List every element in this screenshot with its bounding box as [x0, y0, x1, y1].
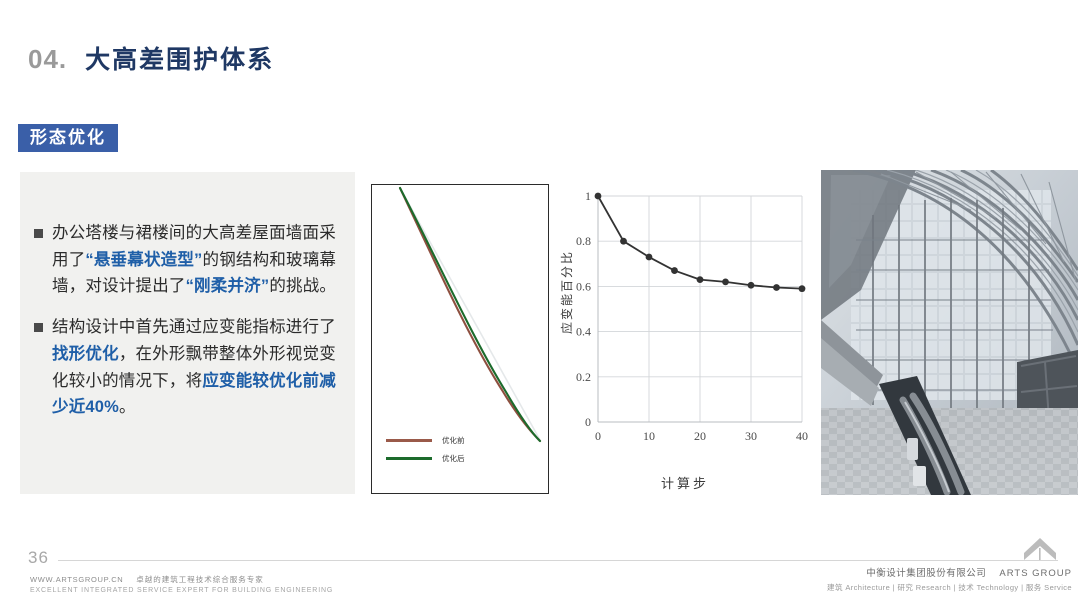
list-item: 办公塔楼与裙楼间的大高差屋面墙面采用了“悬垂幕状造型”的钢结构和玻璃幕墙，对设计…	[34, 220, 337, 300]
logo-chevron-icon	[1022, 536, 1058, 562]
page-title: 04. 大高差围护体系	[28, 40, 274, 76]
footer-website: WWW.ARTSGROUP.CN	[30, 575, 123, 584]
x-tick-label: 10	[643, 429, 655, 443]
shape-optimization-diagram: 优化前 优化后	[371, 184, 549, 494]
section-badge: 形态优化	[18, 124, 118, 152]
y-tick-label: 0.4	[576, 325, 591, 339]
footer-right-block: 中衡设计集团股份有限公司 ARTS GROUP 建筑 Architecture …	[827, 566, 1072, 595]
shape-diagram-legend: 优化前 优化后	[386, 435, 465, 471]
highlighted-text: “悬垂幕状造型”	[85, 251, 202, 269]
line-chart-svg: 00.20.40.60.81010203040	[556, 184, 814, 462]
data-point-marker	[671, 267, 678, 274]
legend-item-after: 优化后	[386, 453, 465, 464]
footer-divider	[58, 560, 1058, 561]
data-point-marker	[722, 278, 729, 285]
page-title-number: 04.	[28, 44, 67, 75]
x-tick-label: 20	[694, 429, 706, 443]
legend-item-before: 优化前	[386, 435, 465, 446]
footer-slogan-en: EXCELLENT INTEGRATED SERVICE EXPERT FOR …	[30, 586, 333, 597]
guide-line	[400, 188, 540, 440]
page-title-text: 大高差围护体系	[85, 40, 274, 76]
chart-x-axis-label: 计算步	[556, 473, 814, 492]
footer-left-block: WWW.ARTSGROUP.CN 卓越的建筑工程技术综合服务专家 EXCELLE…	[30, 574, 333, 596]
y-tick-label: 0.2	[576, 370, 591, 384]
footer-left-line1: WWW.ARTSGROUP.CN 卓越的建筑工程技术综合服务专家	[30, 574, 333, 586]
highlighted-text: “刚柔并济”	[186, 277, 270, 295]
data-point-marker	[748, 282, 755, 289]
strain-energy-line-chart: 00.20.40.60.81010203040 应变能百分比 计算步	[556, 184, 814, 494]
plain-text: 结构设计中首先通过应变能指标进行了	[52, 318, 336, 336]
footer-slogan-cn: 卓越的建筑工程技术综合服务专家	[136, 575, 264, 584]
highlighted-text: 找形优化	[52, 345, 119, 363]
x-tick-label: 30	[745, 429, 757, 443]
legend-swatch-after	[386, 457, 432, 459]
data-point-marker	[595, 193, 602, 200]
bullet-text-2: 结构设计中首先通过应变能指标进行了找形优化，在外形飘带整体外形视觉变化较小的情况…	[52, 314, 337, 421]
plain-text: 。	[119, 398, 136, 416]
legend-label-after: 优化后	[442, 453, 465, 464]
content-text-panel: 办公塔楼与裙楼间的大高差屋面墙面采用了“悬垂幕状造型”的钢结构和玻璃幕墙，对设计…	[20, 172, 355, 494]
y-tick-label: 1	[585, 189, 591, 203]
data-point-marker	[620, 238, 627, 245]
chart-y-axis-label: 应变能百分比	[558, 250, 575, 334]
arts-group-logo-icon	[1022, 536, 1058, 562]
x-tick-label: 0	[595, 429, 601, 443]
legend-label-before: 优化前	[442, 435, 465, 446]
architecture-photo	[821, 170, 1078, 495]
y-tick-label: 0	[585, 415, 591, 429]
architecture-photo-svg	[821, 170, 1078, 495]
data-point-marker	[799, 285, 806, 292]
list-item: 结构设计中首先通过应变能指标进行了找形优化，在外形飘带整体外形视觉变化较小的情况…	[34, 314, 337, 421]
data-point-marker	[697, 276, 704, 283]
plain-text: 的挑战。	[269, 277, 336, 295]
footer-company-line: 中衡设计集团股份有限公司 ARTS GROUP	[827, 566, 1072, 582]
page-number: 36	[28, 548, 49, 568]
y-tick-label: 0.6	[576, 279, 591, 293]
footer-company-en: ARTS GROUP	[999, 568, 1072, 579]
legend-swatch-before	[386, 439, 432, 441]
square-bullet-icon	[34, 323, 43, 332]
data-point-marker	[773, 284, 780, 291]
x-tick-label: 40	[796, 429, 808, 443]
square-bullet-icon	[34, 229, 43, 238]
y-tick-label: 0.8	[576, 234, 591, 248]
footer-services-line: 建筑 Architecture | 研究 Research | 技术 Techn…	[827, 582, 1072, 595]
footer-company-cn: 中衡设计集团股份有限公司	[866, 568, 986, 579]
bullet-text-1: 办公塔楼与裙楼间的大高差屋面墙面采用了“悬垂幕状造型”的钢结构和玻璃幕墙，对设计…	[52, 220, 337, 300]
data-point-marker	[646, 254, 653, 261]
